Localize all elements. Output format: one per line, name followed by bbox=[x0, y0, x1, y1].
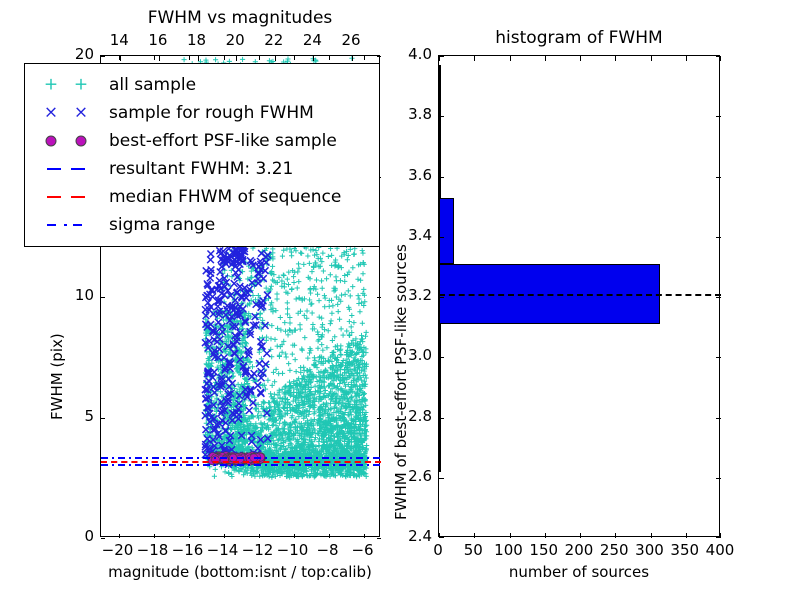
dashed-line-icon bbox=[47, 168, 61, 170]
right-y-ticklabel-6: 3.6 bbox=[380, 166, 432, 184]
dashdot-line-icon bbox=[73, 224, 82, 226]
right-x-tick-top-4 bbox=[580, 56, 581, 61]
legend-item: resultant FWHM: 3.21 bbox=[33, 155, 371, 183]
x-tick-bottom-7 bbox=[364, 534, 365, 538]
dashed-line-icon bbox=[71, 168, 85, 170]
legend-item: ××sample for rough FWHM bbox=[33, 99, 371, 127]
right-plot-title: histogram of FWHM bbox=[438, 28, 720, 48]
dashdot-line-icon bbox=[47, 224, 56, 226]
y-ticklabel-2: 10 bbox=[42, 286, 94, 304]
right-x-tick-top-0 bbox=[439, 56, 440, 61]
right-y-tick-7 bbox=[439, 116, 444, 117]
plus-icon: + bbox=[74, 77, 88, 94]
reference-line-median-fhwm-of-sequence bbox=[101, 461, 381, 463]
x-ticklabel-top-6: 26 bbox=[326, 31, 376, 49]
right-y-tick-4 bbox=[439, 297, 444, 298]
legend-item-label: best-effort PSF-like sample bbox=[103, 131, 337, 151]
right-y-tick-5 bbox=[439, 237, 444, 238]
right-y-tick-3 bbox=[439, 357, 444, 358]
right-x-tick-7 bbox=[686, 533, 687, 538]
legend-item-label: sigma range bbox=[103, 215, 215, 235]
histogram-bars bbox=[439, 56, 719, 536]
x-tick-bottom-2 bbox=[189, 534, 190, 538]
right-y-ticklabel-8: 4.0 bbox=[380, 45, 432, 63]
right-y-tick-1 bbox=[439, 478, 444, 479]
legend-item-label: median FHWM of sequence bbox=[103, 187, 341, 207]
right-x-tick-2 bbox=[510, 533, 511, 538]
y-tick-2 bbox=[101, 297, 105, 298]
resultant-fwhm-marker-line bbox=[439, 294, 721, 296]
right-x-tick-1 bbox=[474, 533, 475, 538]
right-y-tick-right-8 bbox=[716, 56, 721, 57]
right-x-tick-top-7 bbox=[686, 56, 687, 61]
left-x-axis-label: magnitude (bottom:isnt / top:calib) bbox=[100, 563, 380, 581]
reference-line-resultant-fwhm bbox=[101, 461, 381, 463]
legend-marker-dot-icon bbox=[33, 129, 103, 153]
right-y-tick-right-3 bbox=[716, 357, 721, 358]
x-tick-bottom-3 bbox=[224, 534, 225, 538]
reference-line-sigma-range-lower bbox=[101, 464, 381, 466]
x-tick-top-inner-7 bbox=[364, 56, 365, 60]
right-plot-axes bbox=[438, 55, 720, 537]
right-y-ticklabel-7: 3.8 bbox=[380, 105, 432, 123]
x-tick-bottom-0 bbox=[119, 534, 120, 538]
right-y-tick-8 bbox=[439, 56, 444, 57]
y-tick-1 bbox=[101, 418, 105, 419]
right-y-tick-right-6 bbox=[716, 177, 721, 178]
x-tick-bottom-5 bbox=[294, 534, 295, 538]
legend-marker-dashed-icon bbox=[33, 185, 103, 209]
dashed-line-icon bbox=[47, 196, 61, 198]
x-tick-top-inner-0 bbox=[119, 56, 120, 60]
dashdot-line-icon bbox=[64, 224, 67, 226]
right-y-ticklabel-5: 3.4 bbox=[380, 226, 432, 244]
y-ticklabel-4: 20 bbox=[42, 45, 94, 63]
legend-marker-dashdot-icon bbox=[33, 213, 103, 237]
legend-item: sigma range bbox=[33, 211, 371, 239]
left-plot-title: FWHM vs magnitudes bbox=[100, 8, 380, 28]
legend-marker-cross-icon: ×× bbox=[33, 101, 103, 125]
right-x-tick-top-6 bbox=[651, 56, 652, 61]
right-y-tick-right-2 bbox=[716, 418, 721, 419]
dashed-line-icon bbox=[71, 196, 85, 198]
x-tick-top-inner-2 bbox=[189, 56, 190, 60]
right-x-tick-4 bbox=[580, 533, 581, 538]
legend-item-label: all sample bbox=[103, 75, 196, 95]
legend-item: median FHWM of sequence bbox=[33, 183, 371, 211]
right-x-tick-3 bbox=[545, 533, 546, 538]
right-y-ticklabel-0: 2.4 bbox=[380, 527, 432, 545]
right-x-tick-top-1 bbox=[474, 56, 475, 61]
legend-item: best-effort PSF-like sample bbox=[33, 127, 371, 155]
x-tick-top-inner-3 bbox=[224, 56, 225, 60]
x-tick-top-inner-4 bbox=[259, 56, 260, 60]
x-tick-top-0 bbox=[120, 56, 121, 61]
right-y-tick-right-7 bbox=[716, 116, 721, 117]
right-x-tick-top-8 bbox=[720, 56, 721, 61]
right-y-tick-right-0 bbox=[716, 537, 721, 538]
right-x-tick-top-3 bbox=[545, 56, 546, 61]
histogram-marker-line bbox=[439, 56, 719, 536]
histogram-bar bbox=[439, 264, 660, 324]
x-tick-top-inner-1 bbox=[154, 56, 155, 60]
legend-box: ++all sample××sample for rough FWHMbest-… bbox=[24, 63, 380, 247]
x-tick-top-1 bbox=[159, 56, 160, 61]
y-ticklabel-0: 0 bbox=[42, 527, 94, 545]
x-tick-bottom-6 bbox=[329, 534, 330, 538]
right-x-tick-5 bbox=[615, 533, 616, 538]
histogram-bar bbox=[439, 65, 441, 198]
right-y-axis-label: FWHM of best-effort PSF-like sources bbox=[392, 244, 410, 520]
x-tick-top-2 bbox=[198, 56, 199, 61]
histogram-bar bbox=[439, 372, 441, 471]
right-x-tick-top-2 bbox=[510, 56, 511, 61]
right-y-tick-right-5 bbox=[716, 237, 721, 238]
legend-item-label: resultant FWHM: 3.21 bbox=[103, 159, 293, 179]
right-x-ticklabel-8: 400 bbox=[695, 541, 745, 559]
x-tick-bottom-4 bbox=[259, 534, 260, 538]
right-x-tick-6 bbox=[651, 533, 652, 538]
legend-marker-plus-icon: ++ bbox=[33, 73, 103, 97]
right-x-tick-0 bbox=[439, 533, 440, 538]
right-y-tick-right-4 bbox=[716, 297, 721, 298]
y-tick-4 bbox=[101, 56, 105, 57]
right-x-tick-8 bbox=[720, 533, 721, 538]
right-axis-tickmarks bbox=[439, 56, 719, 536]
right-y-tick-0 bbox=[439, 537, 444, 538]
legend-item-label: sample for rough FWHM bbox=[103, 103, 314, 123]
x-tick-top-6 bbox=[352, 56, 353, 61]
y-tick-0 bbox=[101, 538, 105, 539]
x-tick-top-4 bbox=[275, 56, 276, 61]
legend-marker-dashed-icon bbox=[33, 157, 103, 181]
right-y-tick-6 bbox=[439, 177, 444, 178]
right-x-axis-label: number of sources bbox=[438, 563, 720, 581]
right-x-tick-top-5 bbox=[615, 56, 616, 61]
x-tick-top-3 bbox=[236, 56, 237, 61]
right-y-tick-right-1 bbox=[716, 478, 721, 479]
left-y-axis-label: FWHM (pix) bbox=[48, 333, 66, 420]
histogram-bar bbox=[439, 324, 441, 372]
legend-item: ++all sample bbox=[33, 71, 371, 99]
x-tick-top-5 bbox=[313, 56, 314, 61]
plus-icon: + bbox=[44, 77, 58, 94]
cross-icon: × bbox=[44, 105, 58, 122]
x-tick-top-inner-5 bbox=[294, 56, 295, 60]
reference-line-sigma-range-upper bbox=[101, 457, 381, 459]
right-y-tick-2 bbox=[439, 418, 444, 419]
histogram-bar bbox=[439, 198, 454, 264]
figure-canvas: FWHM vs magnitudes 14161820222426 −20−18… bbox=[0, 0, 800, 600]
x-tick-bottom-1 bbox=[154, 534, 155, 538]
dot-icon bbox=[46, 136, 57, 147]
cross-icon: × bbox=[74, 105, 88, 122]
dot-icon bbox=[76, 136, 87, 147]
x-tick-top-inner-6 bbox=[329, 56, 330, 60]
